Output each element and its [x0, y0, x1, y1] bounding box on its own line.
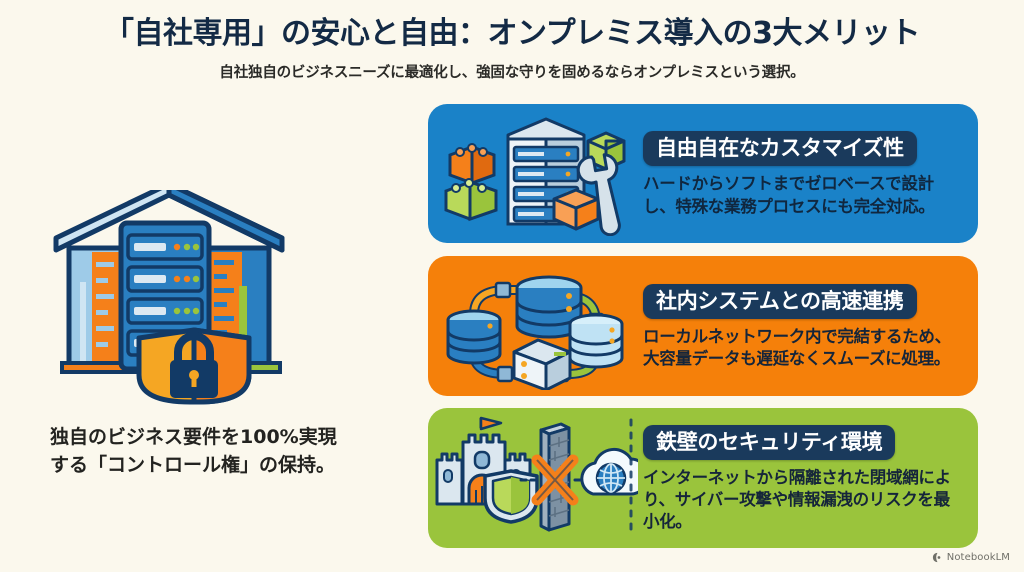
- watermark-label: NotebookLM: [947, 552, 1010, 563]
- notebooklm-logo-icon: [932, 552, 943, 563]
- castle-firewall-blocked-cloud-illustration: [433, 416, 638, 541]
- benefit-card-integration[interactable]: 社内システムとの高速連携 ローカルネットワーク内で完結するため、大容量データも遅…: [428, 256, 978, 396]
- card-illustration-slot: [428, 104, 643, 243]
- benefits-card-list: 自由自在なカスタマイズ性 ハードからソフトまでゼロベースで設計し、特殊な業務プロ…: [428, 104, 978, 548]
- watermark: NotebookLM: [932, 552, 1010, 563]
- on-premise-datacenter-building-with-lock-illustration: [44, 190, 374, 410]
- benefit-card-customization[interactable]: 自由自在なカスタマイズ性 ハードからソフトまでゼロベースで設計し、特殊な業務プロ…: [428, 104, 978, 243]
- card-text-block: 社内システムとの高速連携 ローカルネットワーク内で完結するため、大容量データも遅…: [643, 282, 978, 370]
- card-description: インターネットから隔離された閉域網により、サイバー攻撃や情報漏洩のリスクを最小化…: [643, 467, 963, 533]
- left-panel: 独自のビジネス要件を100%実現する「コントロール権」の保持。: [44, 190, 384, 479]
- card-text-block: 鉄壁のセキュリティ環境 インターネットから隔離された閉域網により、サイバー攻撃や…: [643, 423, 978, 533]
- card-illustration-slot: [428, 408, 643, 548]
- card-description: ハードからソフトまでゼロベースで設計し、特殊な業務プロセスにも完全対応。: [643, 173, 963, 217]
- card-text-block: 自由自在なカスタマイズ性 ハードからソフトまでゼロベースで設計し、特殊な業務プロ…: [643, 129, 978, 217]
- card-heading-pill: 社内システムとの高速連携: [643, 284, 917, 319]
- connected-databases-network-illustration: [436, 262, 636, 390]
- left-panel-caption: 独自のビジネス要件を100%実現する「コントロール権」の保持。: [50, 424, 350, 479]
- page-subtitle: 自社独自のビジネスニーズに最適化し、強固な守りを固めるならオンプレミスという選択…: [0, 61, 1024, 82]
- page-title: 「自社専用」の安心と自由：オンプレミス導入の3大メリット: [0, 16, 1024, 52]
- card-heading-pill: 自由自在なカスタマイズ性: [643, 131, 917, 166]
- card-description: ローカルネットワーク内で完結するため、大容量データも遅延なくスムーズに処理。: [643, 326, 963, 370]
- header: 「自社専用」の安心と自由：オンプレミス導入の3大メリット 自社独自のビジネスニー…: [0, 16, 1024, 82]
- benefit-card-security[interactable]: 鉄壁のセキュリティ環境 インターネットから隔離された閉域網により、サイバー攻撃や…: [428, 408, 978, 548]
- infographic-canvas: 「自社専用」の安心と自由：オンプレミス導入の3大メリット 自社独自のビジネスニー…: [0, 0, 1024, 572]
- server-rack-wrench-blocks-illustration: [436, 111, 636, 236]
- card-illustration-slot: [428, 256, 643, 396]
- card-heading-pill: 鉄壁のセキュリティ環境: [643, 425, 895, 460]
